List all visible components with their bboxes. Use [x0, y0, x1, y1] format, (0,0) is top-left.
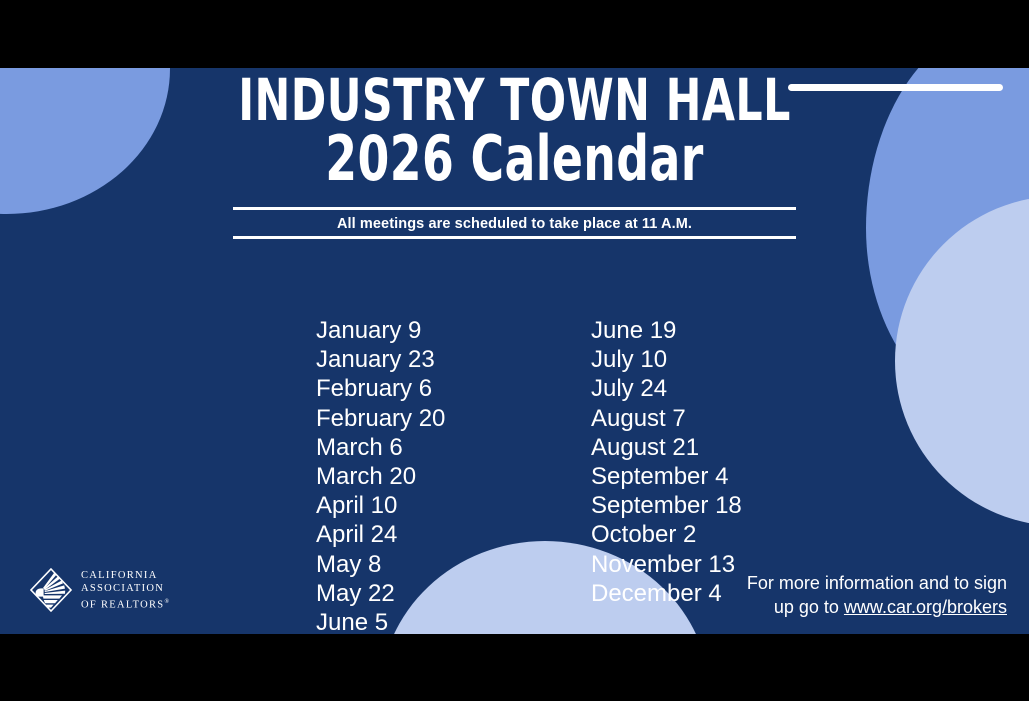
date-column-left: January 9 January 23 February 6 February… — [316, 316, 591, 634]
title-block: INDUSTRY TOWN HALL 2026 Calendar — [0, 74, 1029, 188]
date-item: April 10 — [316, 491, 591, 520]
date-item: February 20 — [316, 404, 591, 433]
car-logo-line-3-text: OF REALTORS — [81, 599, 164, 610]
date-item: March 6 — [316, 433, 591, 462]
page-title-line-2: 2026 Calendar — [93, 130, 937, 188]
page-title-line-1: INDUSTRY TOWN HALL — [93, 74, 937, 128]
date-item: September 4 — [591, 462, 891, 491]
car-logo-line-3: OF REALTORS® — [81, 596, 169, 612]
date-item: July 24 — [591, 374, 891, 403]
footer-line-1: For more information and to sign — [587, 571, 1007, 595]
date-item: August 21 — [591, 433, 891, 462]
car-brokers-link[interactable]: www.car.org/brokers — [844, 597, 1007, 617]
letterbox-bottom — [0, 634, 1029, 701]
date-item: June 5 — [316, 608, 591, 634]
letterbox-top — [0, 0, 1029, 68]
footer-line-2-prefix: up go to — [774, 597, 844, 617]
date-item: May 22 — [316, 579, 591, 608]
date-item: June 19 — [591, 316, 891, 345]
date-item: March 20 — [316, 462, 591, 491]
date-item: January 23 — [316, 345, 591, 374]
subtitle-block: All meetings are scheduled to take place… — [233, 207, 796, 239]
date-item: September 18 — [591, 491, 891, 520]
registered-trademark-icon: ® — [164, 599, 169, 605]
car-logo-text: CALIFORNIA ASSOCIATION OF REALTORS® — [81, 569, 169, 612]
slide-root: INDUSTRY TOWN HALL 2026 Calendar All mee… — [0, 0, 1029, 701]
date-item: August 7 — [591, 404, 891, 433]
subtitle-rule-bottom — [233, 236, 796, 239]
subtitle-text: All meetings are scheduled to take place… — [233, 210, 796, 236]
car-logo-line-1: CALIFORNIA — [81, 569, 169, 583]
date-item: October 2 — [591, 520, 891, 549]
date-item: February 6 — [316, 374, 591, 403]
car-diamond-fan-icon — [30, 568, 72, 612]
slide-canvas: INDUSTRY TOWN HALL 2026 Calendar All mee… — [0, 68, 1029, 634]
car-logo-line-2: ASSOCIATION — [81, 582, 169, 596]
footer-line-2: up go to www.car.org/brokers — [587, 595, 1007, 619]
date-item: April 24 — [316, 520, 591, 549]
slide-content: INDUSTRY TOWN HALL 2026 Calendar All mee… — [0, 68, 1029, 634]
date-item: July 10 — [591, 345, 891, 374]
date-item: May 8 — [316, 550, 591, 579]
footer-info: For more information and to sign up go t… — [587, 571, 1007, 619]
car-logo: CALIFORNIA ASSOCIATION OF REALTORS® — [30, 568, 169, 612]
date-item: January 9 — [316, 316, 591, 345]
